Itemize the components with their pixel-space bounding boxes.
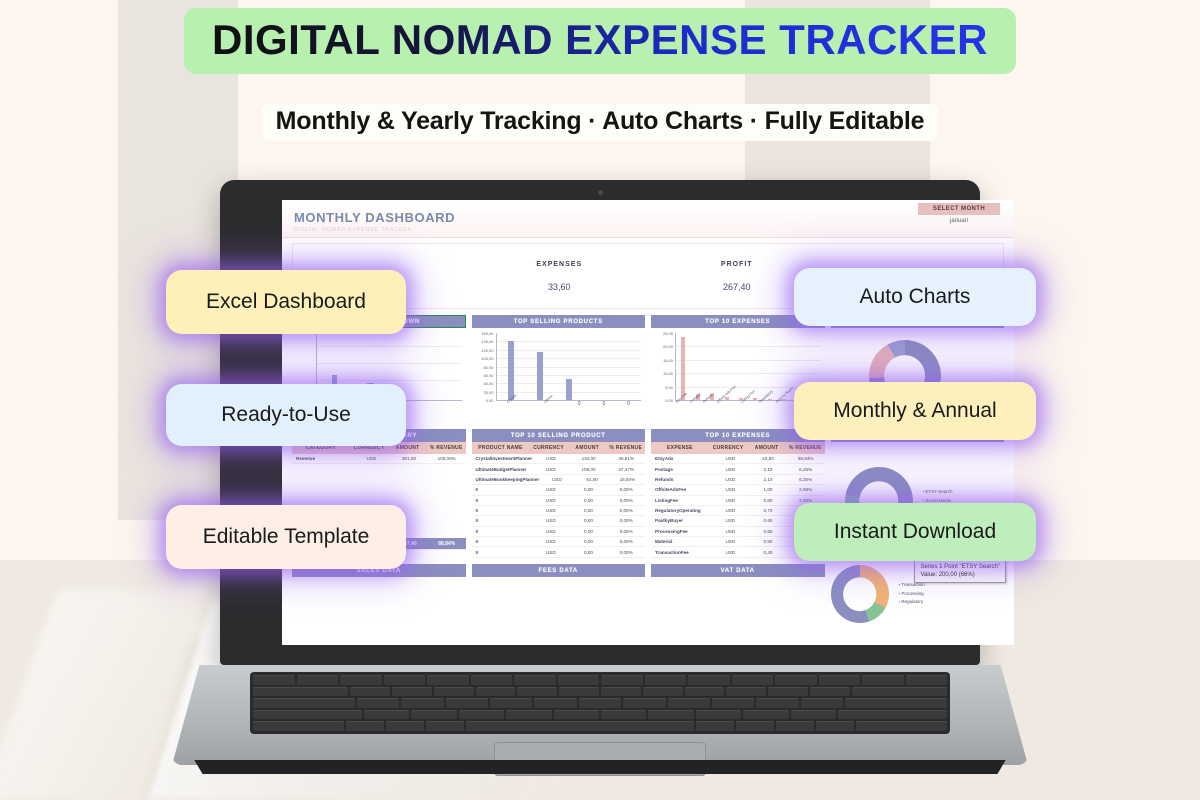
month-selector[interactable]: SELECT MONTH januari (918, 203, 1000, 224)
legend-item: Regulatory (899, 598, 925, 607)
cell: 23,50 (749, 454, 787, 463)
cell: USD (532, 516, 570, 525)
cell: 0,80 (749, 496, 787, 505)
cell: 301,00 (390, 454, 428, 463)
cell: USD (712, 464, 750, 473)
badge-ready-to-use[interactable]: Ready-to-Use (166, 384, 406, 446)
keyboard-key[interactable] (384, 675, 426, 685)
col-header: AMOUNT (747, 442, 786, 454)
table-row[interactable]: 0USD0,000,00% (472, 547, 646, 557)
ytick: 0,00 (665, 399, 673, 403)
table-row[interactable]: EtsyAdsUSD23,5069,94% (651, 454, 825, 464)
kpi-expenses-value: 33,60 (471, 282, 649, 292)
keyboard-key[interactable] (645, 675, 687, 685)
keyboard-key[interactable] (756, 698, 798, 708)
cell: 37,47% (607, 464, 645, 473)
laptop-front-edge (186, 760, 1014, 774)
keyboard-key[interactable] (601, 675, 643, 685)
keyboard-row (253, 675, 947, 685)
keyboard-key[interactable] (446, 698, 488, 708)
keyboard-key[interactable] (906, 675, 948, 685)
select-month-label: SELECT MONTH (918, 203, 1000, 215)
col-header: EXPENSE (651, 442, 709, 454)
keyboard-key[interactable] (392, 687, 432, 697)
keyboard-key[interactable] (601, 710, 646, 720)
webcam-icon (598, 190, 603, 195)
keyboard-key[interactable] (791, 710, 836, 720)
col-header: PRODUCT NAME (472, 442, 530, 454)
cell: USD (539, 475, 574, 484)
kpi-expenses-label: EXPENSES (471, 261, 649, 268)
page-title: DIGITAL NOMAD EXPENSE TRACKER (0, 8, 1200, 74)
page-subtitle: Monthly & Yearly Tracking · Auto Charts … (0, 104, 1200, 141)
cell: 69,94% (787, 454, 825, 463)
panel-top-selling-products[interactable]: TOP SELLING PRODUCTS 160,00 140,00 120,0… (472, 315, 646, 423)
keyboard-row (253, 687, 947, 697)
cell: 2,10 (749, 464, 787, 473)
table-row[interactable]: OffsiteAdsFeeUSD1,002,98% (651, 485, 825, 495)
table-row[interactable]: 0USD0,000,00% (472, 485, 646, 495)
dashboard-title: MONTHLY DASHBOARD (294, 210, 455, 225)
keyboard-key[interactable] (253, 710, 362, 720)
chart-tooltip: Series 1 Point "ETSY Search" Value: 200,… (914, 559, 1006, 583)
title-text: DIGITAL NOMAD EXPENSE TRACKER (212, 16, 988, 63)
cell: 0,00 (570, 527, 608, 536)
table-row[interactable]: UltimateBookkeepingPlannerUSD51,0016,94% (472, 475, 646, 485)
cell: 6,25% (787, 475, 825, 484)
expenses-table-header: EXPENSE CURRENCY AMOUNT % REVENUE (651, 442, 825, 454)
cell: 0,40 (749, 547, 787, 556)
cell: 0,00 (570, 485, 608, 494)
cell: 0 (472, 496, 533, 505)
ytick: 60,00 (483, 374, 493, 378)
col-header: CURRENCY (709, 442, 748, 454)
cell: 0,00 (570, 537, 608, 546)
cell: 0,60 (749, 516, 787, 525)
keyboard-key[interactable] (506, 710, 551, 720)
keyboard-key[interactable] (801, 698, 843, 708)
keyboard-key[interactable] (856, 721, 947, 731)
cell: 2,98% (787, 485, 825, 494)
legend-item: ETSY Search (923, 488, 953, 497)
table-row[interactable]: CrystalInvestmentPlannerUSD134,0045,51% (472, 454, 646, 464)
cell: 51,00 (575, 475, 610, 484)
selected-month-value: januari (918, 215, 1000, 224)
ytick: 100,00 (481, 357, 493, 361)
keyboard-key[interactable] (517, 687, 557, 697)
panel-bottom-fees-data[interactable]: FEES DATA (472, 564, 646, 624)
cell: USD (353, 454, 391, 463)
cell: USD (532, 547, 570, 556)
cell: 100,00% (428, 454, 466, 463)
cell: OffsiteAdsFee (651, 485, 712, 494)
keyboard-key[interactable] (350, 687, 390, 697)
table-row[interactable]: 0USD0,000,00% (472, 516, 646, 526)
ytick: 0,00 (486, 399, 494, 403)
ytick: 5,00 (665, 386, 673, 390)
cell: 0 (472, 527, 533, 536)
ytick: 80,00 (483, 366, 493, 370)
cell: ListingFee (651, 496, 712, 505)
title-highlight-pill: DIGITAL NOMAD EXPENSE TRACKER (184, 8, 1016, 74)
table-row[interactable]: ListingFeeUSD0,802,38% (651, 496, 825, 506)
keyboard-key[interactable] (810, 687, 850, 697)
xlab: 0 (578, 401, 581, 423)
keyboard-key[interactable] (668, 698, 710, 708)
keyboard-key[interactable] (743, 710, 788, 720)
keyboard-key[interactable] (623, 698, 665, 708)
keyboard-key[interactable] (601, 687, 641, 697)
top-selling-bars (497, 333, 642, 400)
table-row[interactable]: 0USD0,000,00% (472, 537, 646, 547)
cell: 2,10 (749, 475, 787, 484)
cell: USD (712, 506, 750, 515)
keyboard-key[interactable] (852, 687, 947, 697)
panel-top-selling-products-title: TOP SELLING PRODUCTS (472, 315, 646, 328)
keyboard-key[interactable] (364, 710, 409, 720)
col-header: % REVENUE (606, 442, 645, 454)
cell: 45,51% (607, 454, 645, 463)
keyboard-key[interactable] (253, 721, 344, 731)
top-selling-table-header: PRODUCT NAME CURRENCY AMOUNT % REVENUE (472, 442, 646, 454)
keyboard-row (253, 698, 947, 708)
ytick: 20,00 (483, 391, 493, 395)
cell: 0 (472, 516, 533, 525)
keyboard-key[interactable] (775, 675, 817, 685)
badge-instant-download[interactable]: Instant Download (794, 503, 1036, 561)
fees-data-legend: Transaction Processing Regulatory (899, 581, 925, 607)
cell: 0,60 (749, 527, 787, 536)
cell: USD (712, 547, 750, 556)
badge-editable-template[interactable]: Editable Template (166, 505, 406, 569)
keyboard-key[interactable] (862, 675, 904, 685)
keyboard-key[interactable] (819, 675, 861, 685)
cell: USD (712, 454, 750, 463)
table-row[interactable]: RefundsUSD2,106,25% (651, 475, 825, 485)
cell: USD (532, 454, 570, 463)
keyboard-key[interactable] (579, 698, 621, 708)
panel-bottom-fees-data-title: FEES DATA (472, 564, 646, 577)
cell: USD (532, 496, 570, 505)
top-selling-table-body: CrystalInvestmentPlannerUSD134,0045,51%U… (472, 454, 646, 558)
table-row[interactable]: 0USD0,000,00% (472, 527, 646, 537)
expenses-yaxis: 25,00 20,00 15,00 10,00 5,00 0,00 (653, 332, 673, 403)
cell: Postage (651, 464, 712, 473)
badge-monthly-annual[interactable]: Monthly & Annual (794, 382, 1036, 440)
cell: USD (532, 537, 570, 546)
cell: 0,00 (570, 516, 608, 525)
table-row[interactable]: UltimateBudgetPlannerUSD106,0037,47% (472, 464, 646, 474)
table-row[interactable]: Revenue USD 301,00 100,00% (292, 454, 466, 464)
cell: USD (712, 485, 750, 494)
keyboard-key[interactable] (466, 721, 694, 731)
keyboard-key[interactable] (297, 675, 339, 685)
table-row[interactable]: 0USD0,000,00% (472, 506, 646, 516)
col-header: % REVENUE (427, 442, 466, 454)
cell: 0,50 (749, 537, 787, 546)
cell: USD (712, 516, 750, 525)
keyboard-key[interactable] (357, 698, 399, 708)
cell: 0,00 (570, 506, 608, 515)
cell: 0,00% (607, 496, 645, 505)
keyboard-key[interactable] (696, 710, 741, 720)
top-selling-products-chart: 160,00 140,00 120,00 100,00 80,00 60,00 … (472, 328, 646, 423)
keyboard-key[interactable] (346, 721, 384, 731)
cell: 0,00% (607, 537, 645, 546)
keyboard-key[interactable] (340, 675, 382, 685)
col-header: % REVENUE (786, 442, 825, 454)
keyboard-key[interactable] (648, 710, 693, 720)
keyboard-key[interactable] (426, 721, 464, 731)
ytick: 40,00 (483, 382, 493, 386)
keyboard-key[interactable] (776, 721, 814, 731)
dashboard-header: MONTHLY DASHBOARD DIGITAL NOMAD EXPENSE … (282, 200, 1014, 238)
keyboard-key[interactable] (816, 721, 854, 731)
keyboard-key[interactable] (253, 675, 295, 685)
bottom-panels-row: SALES DATA FEES DATA VAT DATA Transactio… (282, 560, 1014, 624)
cell: 1,00 (749, 485, 787, 494)
tooltip-line-2: Value: 200,00 (66%) (920, 571, 1000, 579)
keyboard-key[interactable] (736, 721, 774, 731)
cell: UltimateBudgetPlanner (472, 464, 533, 473)
table-row[interactable]: PostageUSD2,106,25% (651, 464, 825, 474)
cell: 106,00 (570, 464, 608, 473)
dashboard-subtitle: DIGITAL NOMAD EXPENSE TRACKER (294, 227, 412, 233)
cell: ProcessingFee (651, 527, 712, 536)
keyboard-key[interactable] (643, 687, 683, 697)
panel-bottom-vat-data-title: VAT DATA (651, 564, 825, 577)
cell: USD (712, 475, 750, 484)
panel-top10-selling-product[interactable]: TOP 10 SELLING PRODUCT PRODUCT NAME CURR… (472, 429, 646, 560)
keyboard-key[interactable] (386, 721, 424, 731)
top-selling-plot (496, 333, 642, 401)
keyboard-key[interactable] (726, 687, 766, 697)
badge-excel-dashboard[interactable]: Excel Dashboard (166, 270, 406, 334)
cell: 88,84% (428, 538, 466, 548)
keyboard-key[interactable] (490, 698, 532, 708)
keyboard-key[interactable] (838, 710, 947, 720)
ytick: 25,00 (663, 332, 673, 336)
keyboard-key[interactable] (471, 675, 513, 685)
keyboard-row (253, 721, 947, 731)
keyboard-key[interactable] (434, 687, 474, 697)
cell: 0,00% (607, 527, 645, 536)
cell: CrystalInvestmentPlanner (472, 454, 533, 463)
cell: 134,00 (570, 454, 608, 463)
keyboard-key[interactable] (554, 710, 599, 720)
cell: 0,00% (607, 547, 645, 556)
kpi-expenses: EXPENSES 33,60 (471, 261, 649, 292)
keyboard-key[interactable] (559, 687, 599, 697)
xlab: 0 (602, 401, 605, 423)
cell: 0,00% (607, 516, 645, 525)
keyboard-key[interactable] (401, 698, 443, 708)
cell: 6,25% (787, 464, 825, 473)
keyboard-row (253, 710, 947, 720)
ytick: 160,00 (481, 332, 493, 336)
cell: 0 (472, 485, 533, 494)
cell: 0 (472, 506, 533, 515)
cell: USD (712, 527, 750, 536)
subtitle-text: Monthly & Yearly Tracking · Auto Charts … (276, 107, 925, 135)
cell: USD (712, 496, 750, 505)
cell: USD (532, 527, 570, 536)
table-row[interactable]: 0USD0,000,00% (472, 496, 646, 506)
keyboard-key[interactable] (685, 687, 725, 697)
top-selling-yaxis: 160,00 140,00 120,00 100,00 80,00 60,00 … (474, 332, 494, 403)
ytick: 20,00 (663, 345, 673, 349)
cell: TransactionFee (651, 547, 712, 556)
cell: EtsyAds (651, 454, 712, 463)
ytick: 10,00 (663, 372, 673, 376)
cell: 0,00% (607, 485, 645, 494)
fees-data-donut (831, 565, 889, 623)
keyboard-key[interactable] (845, 698, 947, 708)
ytick: 120,00 (481, 349, 493, 353)
keyboard-key[interactable] (427, 675, 469, 685)
keyboard-key[interactable] (411, 710, 456, 720)
cell: USD (712, 537, 750, 546)
tooltip-line-1: Series 1 Point "ETSY Search" (920, 563, 1000, 571)
cell: PaidbyBuyer (651, 516, 712, 525)
panel-bottom-vat-data[interactable]: VAT DATA (651, 564, 825, 624)
cell: USD (532, 506, 570, 515)
ytick: 15,00 (663, 359, 673, 363)
cell: Refunds (651, 475, 712, 484)
panel-bottom-sales-data[interactable]: SALES DATA (292, 564, 466, 624)
keyboard-key[interactable] (514, 675, 556, 685)
cell: 0,70 (749, 506, 787, 515)
keyboard-key[interactable] (253, 687, 348, 697)
cell: 0,00% (607, 506, 645, 515)
legend-item: Processing (899, 590, 925, 599)
xlab: 0 (627, 401, 630, 423)
keyboard-key[interactable] (712, 698, 754, 708)
keyboard-key[interactable] (459, 710, 504, 720)
cell: UltimateBookkeepingPlanner (472, 475, 540, 484)
kpi-profit-label: PROFIT (648, 261, 826, 268)
keyboard-key[interactable] (558, 675, 600, 685)
cell: 16,94% (610, 475, 645, 484)
cell: 0 (472, 537, 533, 546)
keyboard-key[interactable] (253, 698, 355, 708)
top-selling-xaxis: Crystal... Ultima... 0 0 0 (496, 401, 642, 423)
cell: 0 (472, 547, 533, 556)
keyboard-key[interactable] (696, 721, 734, 731)
keyboard-key[interactable] (476, 687, 516, 697)
cell: Revenue (292, 454, 353, 463)
col-header: AMOUNT (568, 442, 607, 454)
cell: RegulatoryOperating (651, 506, 712, 515)
col-header: CURRENCY (529, 442, 568, 454)
keyboard-key[interactable] (534, 698, 576, 708)
panel-top10-selling-product-title: TOP 10 SELLING PRODUCT (472, 429, 646, 442)
cell: 0,00 (570, 496, 608, 505)
ytick: 140,00 (481, 340, 493, 344)
keyboard-key[interactable] (732, 675, 774, 685)
cell: USD (532, 485, 570, 494)
laptop-keyboard[interactable] (250, 672, 950, 734)
subtitle-highlight-pill: Monthly & Yearly Tracking · Auto Charts … (262, 104, 939, 141)
keyboard-key[interactable] (768, 687, 808, 697)
cell: USD (532, 464, 570, 473)
keyboard-key[interactable] (688, 675, 730, 685)
badge-auto-charts[interactable]: Auto Charts (794, 268, 1036, 326)
cell: 0,00 (570, 547, 608, 556)
cell: Material (651, 537, 712, 546)
